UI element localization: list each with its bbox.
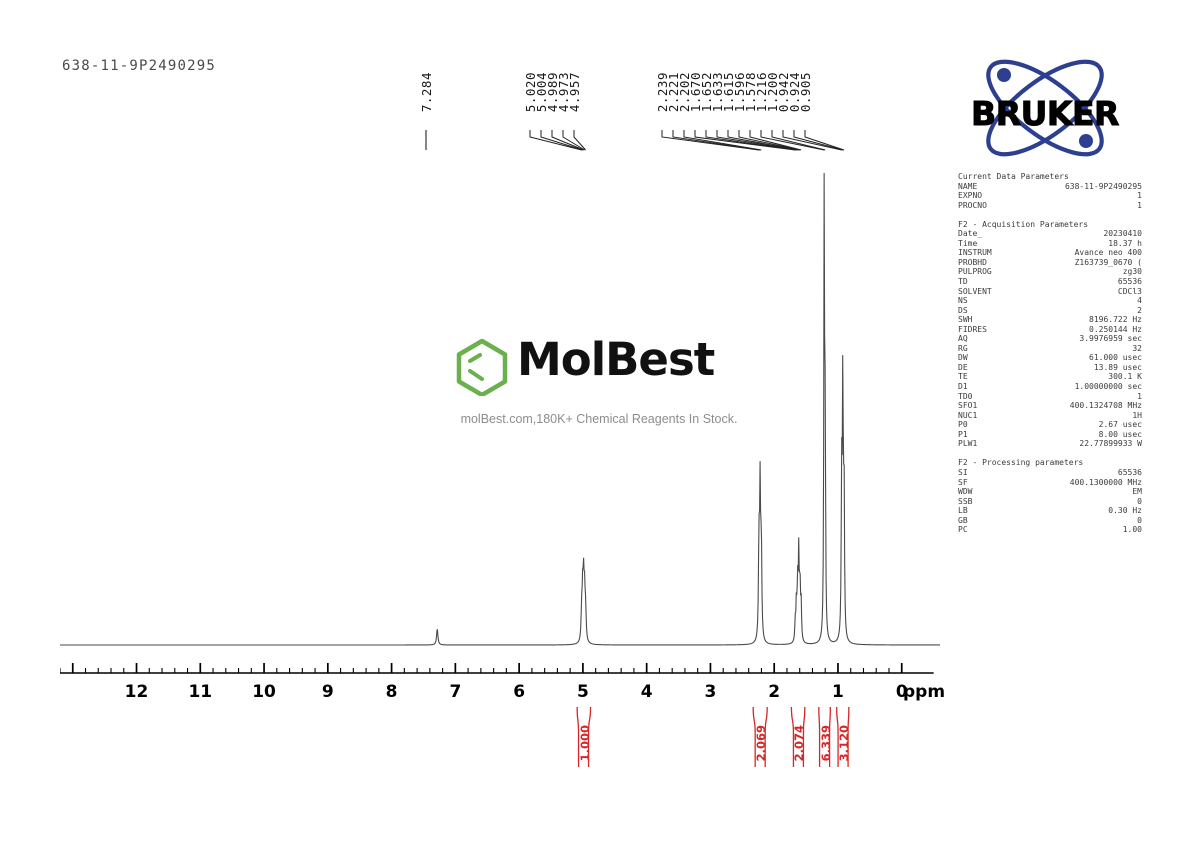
param-value: zg30 — [1014, 267, 1142, 277]
param-row: PC1.00 — [958, 525, 1143, 535]
axis-tick-label: 6 — [513, 682, 525, 702]
param-key: EXPNO — [958, 191, 1014, 201]
param-key: Time — [958, 239, 1014, 249]
param-key: SWH — [958, 315, 1014, 325]
param-value: 61.000 usec — [1014, 353, 1142, 363]
param-value: 400.1300000 MHz — [1014, 478, 1142, 488]
param-key: SOLVENT — [958, 287, 1014, 297]
param-key: TE — [958, 372, 1014, 382]
axis-tick-label: 2 — [768, 682, 780, 702]
param-row: PULPROGzg30 — [958, 267, 1143, 277]
param-row: NUC11H — [958, 411, 1143, 421]
param-value: 20230410 — [1014, 229, 1142, 239]
param-row: NAME638-11-9P2490295 — [958, 182, 1143, 192]
param-value: 1 — [1014, 201, 1142, 211]
peak-label: 0.905 — [800, 72, 813, 112]
param-row: SSB0 — [958, 497, 1143, 507]
integral-region: 1.0002.0692.0746.3393.120 — [60, 705, 940, 785]
param-value: 1 — [1014, 191, 1142, 201]
param-key: AQ — [958, 334, 1014, 344]
param-row: DW61.000 usec — [958, 353, 1143, 363]
param-row: P18.00 usec — [958, 430, 1143, 440]
param-row: TD65536 — [958, 277, 1143, 287]
param-value: 2 — [1014, 306, 1142, 316]
param-section-title: F2 - Acquisition Parameters — [958, 220, 1143, 230]
axis-tick-label: 5 — [577, 682, 589, 702]
param-key: RG — [958, 344, 1014, 354]
param-value: 1.00 — [1014, 525, 1142, 535]
param-value: 0 — [1014, 497, 1142, 507]
param-row: NS4 — [958, 296, 1143, 306]
param-key: PULPROG — [958, 267, 1014, 277]
param-key: WDW — [958, 487, 1014, 497]
param-row: DS2 — [958, 306, 1143, 316]
param-value: 638-11-9P2490295 — [1014, 182, 1142, 192]
param-row: PROCNO1 — [958, 201, 1143, 211]
axis-tick-label: 9 — [322, 682, 334, 702]
param-value: 0.250144 Hz — [1014, 325, 1142, 335]
axis-tick-label: 7 — [449, 682, 461, 702]
param-row: LB0.30 Hz — [958, 506, 1143, 516]
param-row: RG32 — [958, 344, 1143, 354]
param-key: FIDRES — [958, 325, 1014, 335]
param-row: SOLVENTCDCl3 — [958, 287, 1143, 297]
param-row: INSTRUMAvance neo 400 — [958, 248, 1143, 258]
param-row: SF400.1300000 MHz — [958, 478, 1143, 488]
param-spacer — [958, 210, 1143, 220]
param-row: EXPNO1 — [958, 191, 1143, 201]
param-value: Avance neo 400 — [1014, 248, 1142, 258]
param-value: 3.9976959 sec — [1014, 334, 1142, 344]
param-value: 8196.722 Hz — [1014, 315, 1142, 325]
param-row: PROBHDZ163739_0670 ( — [958, 258, 1143, 268]
param-row: PLW122.77899933 W — [958, 439, 1143, 449]
param-key: GB — [958, 516, 1014, 526]
peak-label: 7.284 — [421, 72, 434, 112]
param-key: TD0 — [958, 392, 1014, 402]
param-value: 1 — [1014, 392, 1142, 402]
param-key: LB — [958, 506, 1014, 516]
param-value: 0.30 Hz — [1014, 506, 1142, 516]
param-row: SI65536 — [958, 468, 1143, 478]
param-row: WDWEM — [958, 487, 1143, 497]
param-row: SWH8196.722 Hz — [958, 315, 1143, 325]
param-key: SI — [958, 468, 1014, 478]
param-key: DW — [958, 353, 1014, 363]
param-key: PROBHD — [958, 258, 1014, 268]
integral-brackets — [60, 705, 940, 785]
param-value: CDCl3 — [1014, 287, 1142, 297]
param-key: P0 — [958, 420, 1014, 430]
param-row: P02.67 usec — [958, 420, 1143, 430]
param-value: 2.67 usec — [1014, 420, 1142, 430]
param-value: 300.1 K — [1014, 372, 1142, 382]
axis-tick-label: 10 — [252, 682, 276, 702]
param-row: TD01 — [958, 392, 1143, 402]
param-key: NS — [958, 296, 1014, 306]
param-key: SSB — [958, 497, 1014, 507]
param-spacer — [958, 449, 1143, 459]
spectrum-line — [60, 173, 940, 645]
param-row: D11.00000000 sec — [958, 382, 1143, 392]
param-value: 0 — [1014, 516, 1142, 526]
param-value: Z163739_0670 ( — [1014, 258, 1142, 268]
param-value: 8.00 usec — [1014, 430, 1142, 440]
param-key: P1 — [958, 430, 1014, 440]
axis-tick-label: 8 — [386, 682, 398, 702]
integral-value: 3.120 — [837, 725, 851, 761]
acquisition-parameters-panel: Current Data ParametersNAME638-11-9P2490… — [958, 172, 1143, 535]
param-key: Date_ — [958, 229, 1014, 239]
param-key: SFO1 — [958, 401, 1014, 411]
integral-value: 1.000 — [578, 725, 592, 761]
peak-leader-lines — [0, 0, 1190, 160]
param-key: TD — [958, 277, 1014, 287]
param-key: SF — [958, 478, 1014, 488]
param-row: Time18.37 h — [958, 239, 1143, 249]
axis-unit-label: ppm — [903, 682, 945, 702]
param-row: GB0 — [958, 516, 1143, 526]
param-key: NUC1 — [958, 411, 1014, 421]
param-value: 22.77899933 W — [1014, 439, 1142, 449]
param-value: 13.89 usec — [1014, 363, 1142, 373]
param-section-title: Current Data Parameters — [958, 172, 1143, 182]
param-value: 400.1324708 MHz — [1014, 401, 1142, 411]
param-key: PLW1 — [958, 439, 1014, 449]
param-row: DE13.89 usec — [958, 363, 1143, 373]
param-value: 1H — [1014, 411, 1142, 421]
axis-tick-label: 3 — [705, 682, 717, 702]
param-value: 65536 — [1014, 277, 1142, 287]
integral-value: 2.069 — [754, 725, 768, 761]
param-key: PC — [958, 525, 1014, 535]
spectrum-trace — [60, 150, 940, 650]
integral-value: 2.074 — [792, 725, 806, 761]
param-key: DE — [958, 363, 1014, 373]
param-row: AQ3.9976959 sec — [958, 334, 1143, 344]
param-row: TE300.1 K — [958, 372, 1143, 382]
param-value: EM — [1014, 487, 1142, 497]
param-key: DS — [958, 306, 1014, 316]
param-value: 18.37 h — [1014, 239, 1142, 249]
param-value: 32 — [1014, 344, 1142, 354]
param-row: FIDRES0.250144 Hz — [958, 325, 1143, 335]
integral-value: 6.339 — [819, 725, 833, 761]
param-key: D1 — [958, 382, 1014, 392]
param-row: Date_20230410 — [958, 229, 1143, 239]
param-value: 65536 — [1014, 468, 1142, 478]
param-row: SFO1400.1324708 MHz — [958, 401, 1143, 411]
param-value: 4 — [1014, 296, 1142, 306]
axis-tick-label: 12 — [125, 682, 149, 702]
param-key: PROCNO — [958, 201, 1014, 211]
param-value: 1.00000000 sec — [1014, 382, 1142, 392]
param-key: INSTRUM — [958, 248, 1014, 258]
axis-ruler — [60, 662, 940, 680]
nmr-report-page: 638-11-9P2490295 BRUKER Current Data Par… — [0, 0, 1190, 842]
axis-tick-label: 1 — [832, 682, 844, 702]
peak-label: 4.957 — [569, 72, 582, 112]
param-section-title: F2 - Processing parameters — [958, 458, 1143, 468]
axis-tick-label: 11 — [188, 682, 212, 702]
param-key: NAME — [958, 182, 1014, 192]
axis-tick-label: 4 — [641, 682, 653, 702]
